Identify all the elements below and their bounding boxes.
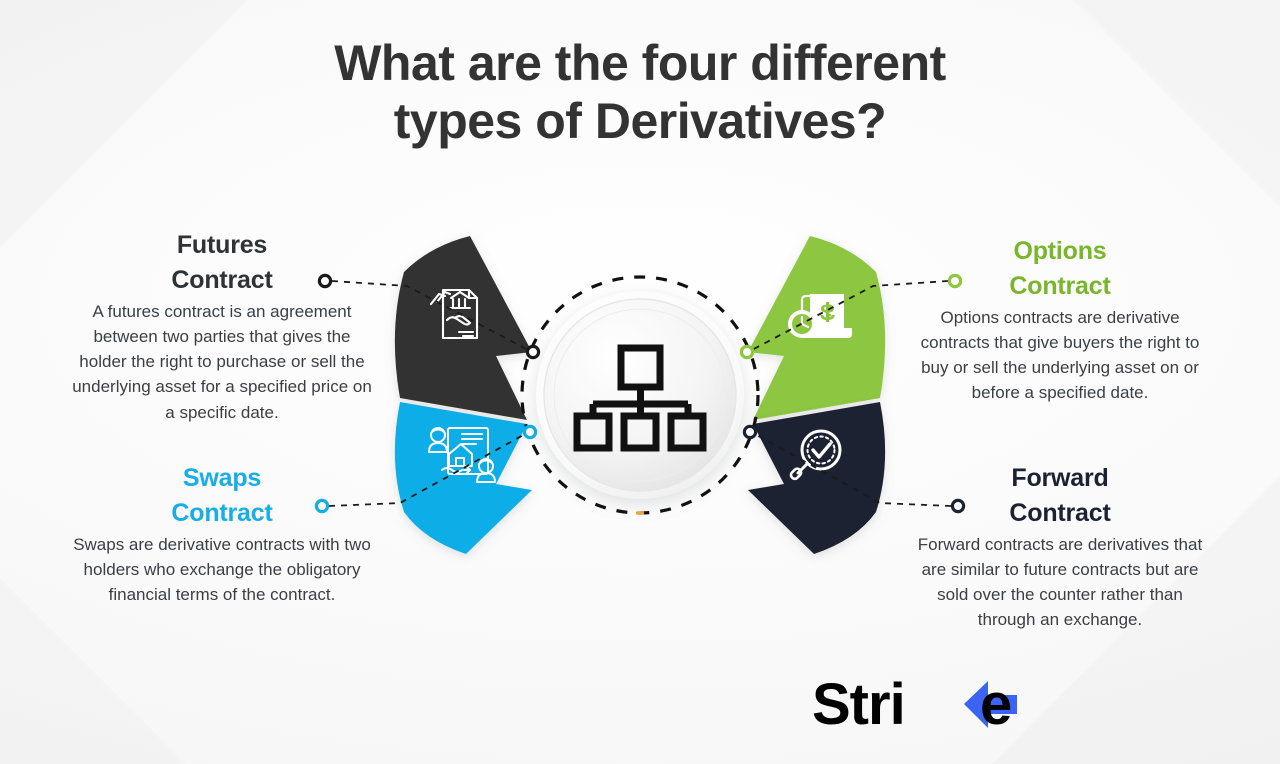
logo-text-after: e	[980, 672, 1011, 737]
block-options-heading-line2: Contract	[1009, 272, 1110, 300]
block-forward-body: Forward contracts are derivatives that a…	[910, 532, 1210, 633]
block-options-heading: Options Contract	[910, 234, 1210, 303]
block-futures-heading: Futures Contract	[72, 228, 372, 297]
strike-logo[interactable]: Stri e	[812, 672, 1027, 740]
block-swaps-body: Swaps are derivative contracts with two …	[72, 532, 372, 607]
block-forward-heading-line1: Forward	[1011, 464, 1108, 492]
connector-dot-forward-inner	[744, 426, 755, 437]
block-futures-body: A futures contract is an agreement betwe…	[72, 299, 372, 425]
block-forward: Forward Contract Forward contracts are d…	[910, 461, 1210, 633]
block-swaps-heading-line2: Contract	[171, 499, 272, 527]
block-futures: Futures Contract A futures contract is a…	[72, 228, 372, 425]
logo-text-before: Stri	[812, 672, 905, 737]
infographic-canvas: What are the four different types of Der…	[0, 0, 1280, 764]
block-forward-heading-line2: Contract	[1009, 499, 1110, 527]
arrow-forward[interactable]	[748, 402, 885, 554]
connector-dot-swaps-inner	[524, 426, 535, 437]
connector-dot-futures-inner	[527, 346, 538, 357]
block-futures-heading-line2: Contract	[171, 266, 272, 294]
block-options: Options Contract Options contracts are d…	[910, 234, 1210, 406]
block-options-body: Options contracts are derivative contrac…	[910, 305, 1210, 406]
arrow-futures[interactable]	[395, 236, 532, 420]
block-swaps-heading: Swaps Contract	[72, 461, 372, 530]
block-forward-heading: Forward Contract	[910, 461, 1210, 530]
connector-dot-options-inner	[741, 346, 752, 357]
arrow-swaps[interactable]	[395, 402, 532, 554]
block-swaps-heading-line1: Swaps	[183, 464, 261, 492]
block-futures-heading-line1: Futures	[177, 231, 267, 259]
block-options-heading-line1: Options	[1013, 237, 1106, 265]
block-swaps: Swaps Contract Swaps are derivative cont…	[72, 461, 372, 607]
